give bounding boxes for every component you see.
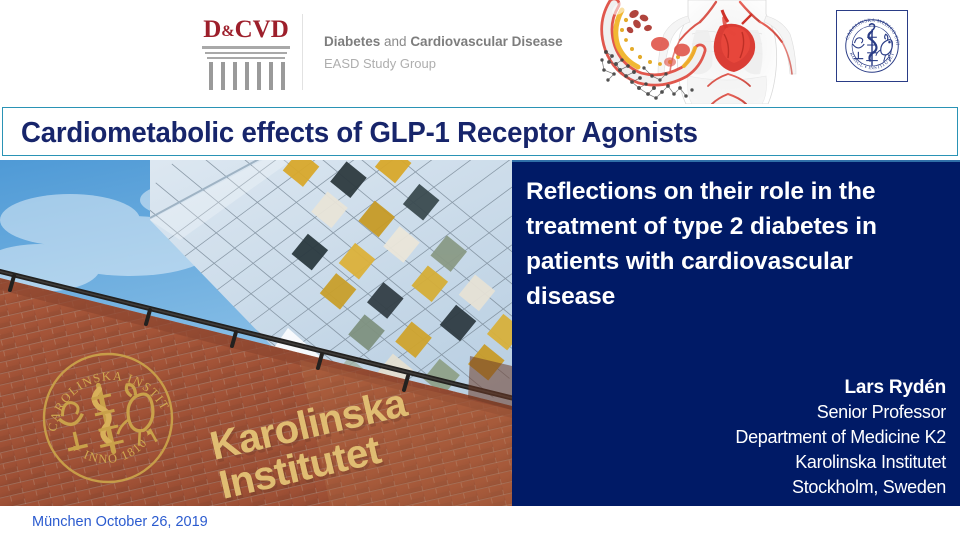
page-title: Cardiometabolic effects of GLP-1 Recepto… bbox=[21, 117, 698, 150]
temple-column bbox=[281, 62, 285, 90]
dcvd-wordmark: D&CVD bbox=[198, 16, 294, 46]
org-title-and: and bbox=[380, 34, 410, 49]
footer-location-date: München October 26, 2019 bbox=[32, 514, 208, 530]
slide-subtitle: Reflections on their role in the treatme… bbox=[526, 174, 936, 314]
temple-column bbox=[233, 62, 237, 90]
author-city: Stockholm, Sweden bbox=[526, 475, 946, 500]
cardiovascular-artwork bbox=[596, 0, 828, 104]
org-title-cvd: Cardiovascular Disease bbox=[410, 34, 562, 49]
presentation-slide: D&CVD Diabetes and Cardiovascular Diseas… bbox=[0, 0, 960, 540]
title-text-panel: Reflections on their role in the treatme… bbox=[512, 160, 960, 506]
slide-footer: München October 26, 2019 bbox=[0, 506, 960, 540]
dcvd-logo: D&CVD bbox=[198, 16, 294, 90]
author-role: Senior Professor bbox=[526, 400, 946, 425]
author-institution: Karolinska Institutet bbox=[526, 450, 946, 475]
header-org-text: Diabetes and Cardiovascular Disease EASD… bbox=[324, 32, 594, 73]
temple-column bbox=[269, 62, 273, 90]
org-subtitle: EASD Study Group bbox=[324, 54, 594, 73]
dcvd-ampersand: & bbox=[221, 23, 234, 40]
author-name: Lars Rydén bbox=[526, 375, 946, 400]
header-divider bbox=[302, 14, 303, 90]
temple-column bbox=[221, 62, 225, 90]
slide-title-bar: Cardiometabolic effects of GLP-1 Recepto… bbox=[2, 107, 958, 156]
karolinska-building-photo: CAROLINSKA INSTITUTET ✦ INNO 1810 ✦ bbox=[0, 160, 512, 506]
karolinska-seal: CAROLINSKA MEDICO CHIRURGISKA KONGL ▪ IN… bbox=[836, 10, 908, 82]
temple-column bbox=[245, 62, 249, 90]
dcvd-letters-cvd: CVD bbox=[235, 16, 289, 43]
org-title-diabetes: Diabetes bbox=[324, 34, 380, 49]
header-band: D&CVD Diabetes and Cardiovascular Diseas… bbox=[0, 0, 960, 104]
cardiovascular-artwork-svg bbox=[596, 0, 828, 104]
temple-columns-icon bbox=[202, 46, 290, 90]
author-block: Lars Rydén Senior Professor Department o… bbox=[526, 375, 946, 500]
karolinska-building-photo-svg: CAROLINSKA INSTITUTET ✦ INNO 1810 ✦ bbox=[0, 160, 512, 506]
temple-column bbox=[209, 62, 213, 90]
karolinska-seal-svg: CAROLINSKA MEDICO CHIRURGISKA KONGL ▪ IN… bbox=[837, 11, 907, 81]
dcvd-letter-d: D bbox=[203, 16, 221, 43]
temple-entablature-bottom bbox=[207, 57, 285, 59]
temple-entablature-mid bbox=[205, 52, 287, 54]
panel-top-rule bbox=[512, 160, 960, 162]
author-department: Department of Medicine K2 bbox=[526, 425, 946, 450]
org-title: Diabetes and Cardiovascular Disease bbox=[324, 32, 594, 51]
temple-column bbox=[257, 62, 261, 90]
temple-entablature-top bbox=[202, 46, 290, 49]
